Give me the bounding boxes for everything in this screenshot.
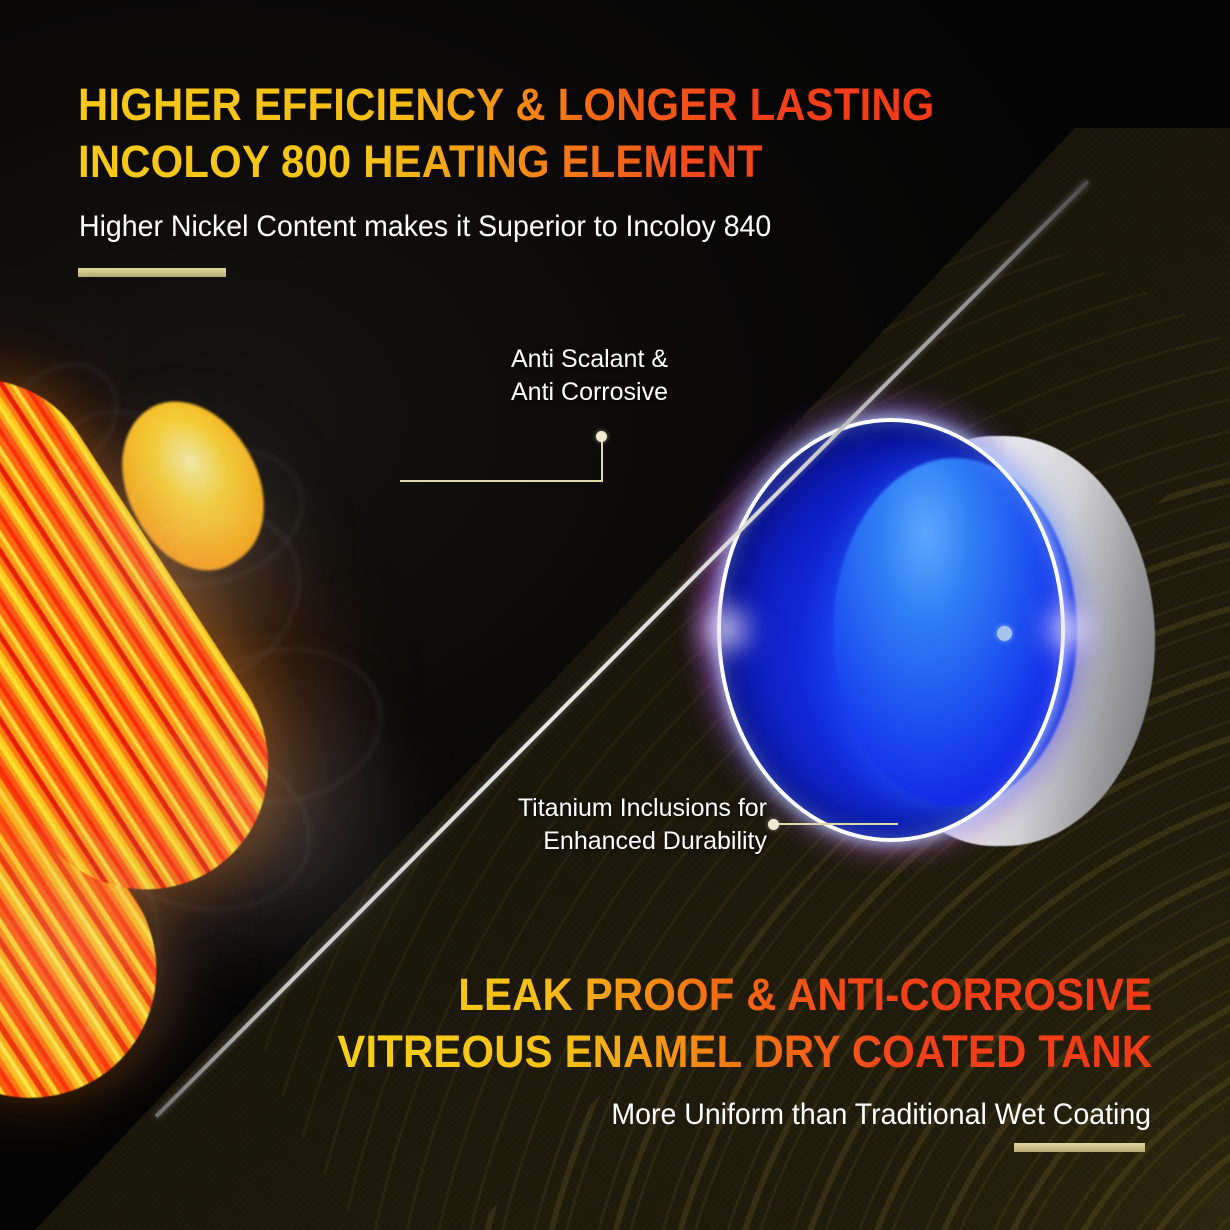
tank-graphic bbox=[705, 408, 1175, 878]
callout-1-leader-dot bbox=[596, 431, 607, 442]
tank-center-dot bbox=[997, 626, 1012, 641]
top-subtitle: Higher Nickel Content makes it Superior … bbox=[79, 208, 771, 246]
rim-flare-left bbox=[691, 594, 761, 664]
bottom-headline: LEAK PROOF & ANTI-CORROSIVE VITREOUS ENA… bbox=[337, 966, 1152, 1080]
bottom-headline-line2: VITREOUS ENAMEL DRY COATED TANK bbox=[337, 1023, 1152, 1080]
bottom-accent-bar bbox=[1014, 1143, 1145, 1152]
callout-1-leader-vertical bbox=[601, 441, 603, 482]
infographic-canvas: HIGHER EFFICIENCY & LONGER LASTING INCOL… bbox=[0, 0, 1230, 1230]
callout-1-leader-horizontal bbox=[400, 480, 603, 482]
callout-2-leader-horizontal bbox=[779, 823, 898, 825]
callout-2-line1: Titanium Inclusions for bbox=[518, 792, 767, 825]
callout-1-line1: Anti Scalant & bbox=[511, 343, 668, 376]
top-headline-line1: HIGHER EFFICIENCY & LONGER LASTING bbox=[78, 76, 935, 133]
callout-1-line2: Anti Corrosive bbox=[511, 376, 668, 409]
bottom-headline-line1: LEAK PROOF & ANTI-CORROSIVE bbox=[337, 966, 1152, 1023]
callout-2-leader-dot bbox=[768, 819, 779, 830]
bottom-subtitle: More Uniform than Traditional Wet Coatin… bbox=[611, 1096, 1151, 1134]
top-headline: HIGHER EFFICIENCY & LONGER LASTING INCOL… bbox=[78, 76, 935, 190]
callout-anti-scalant: Anti Scalant & Anti Corrosive bbox=[511, 343, 668, 409]
top-headline-line2: INCOLOY 800 HEATING ELEMENT bbox=[78, 133, 935, 190]
top-accent-bar bbox=[78, 268, 226, 277]
callout-2-line2: Enhanced Durability bbox=[518, 825, 767, 858]
callout-titanium-inclusions: Titanium Inclusions for Enhanced Durabil… bbox=[518, 792, 767, 858]
rim-flare-right bbox=[1035, 594, 1105, 664]
tank-rim-ring bbox=[717, 418, 1065, 842]
